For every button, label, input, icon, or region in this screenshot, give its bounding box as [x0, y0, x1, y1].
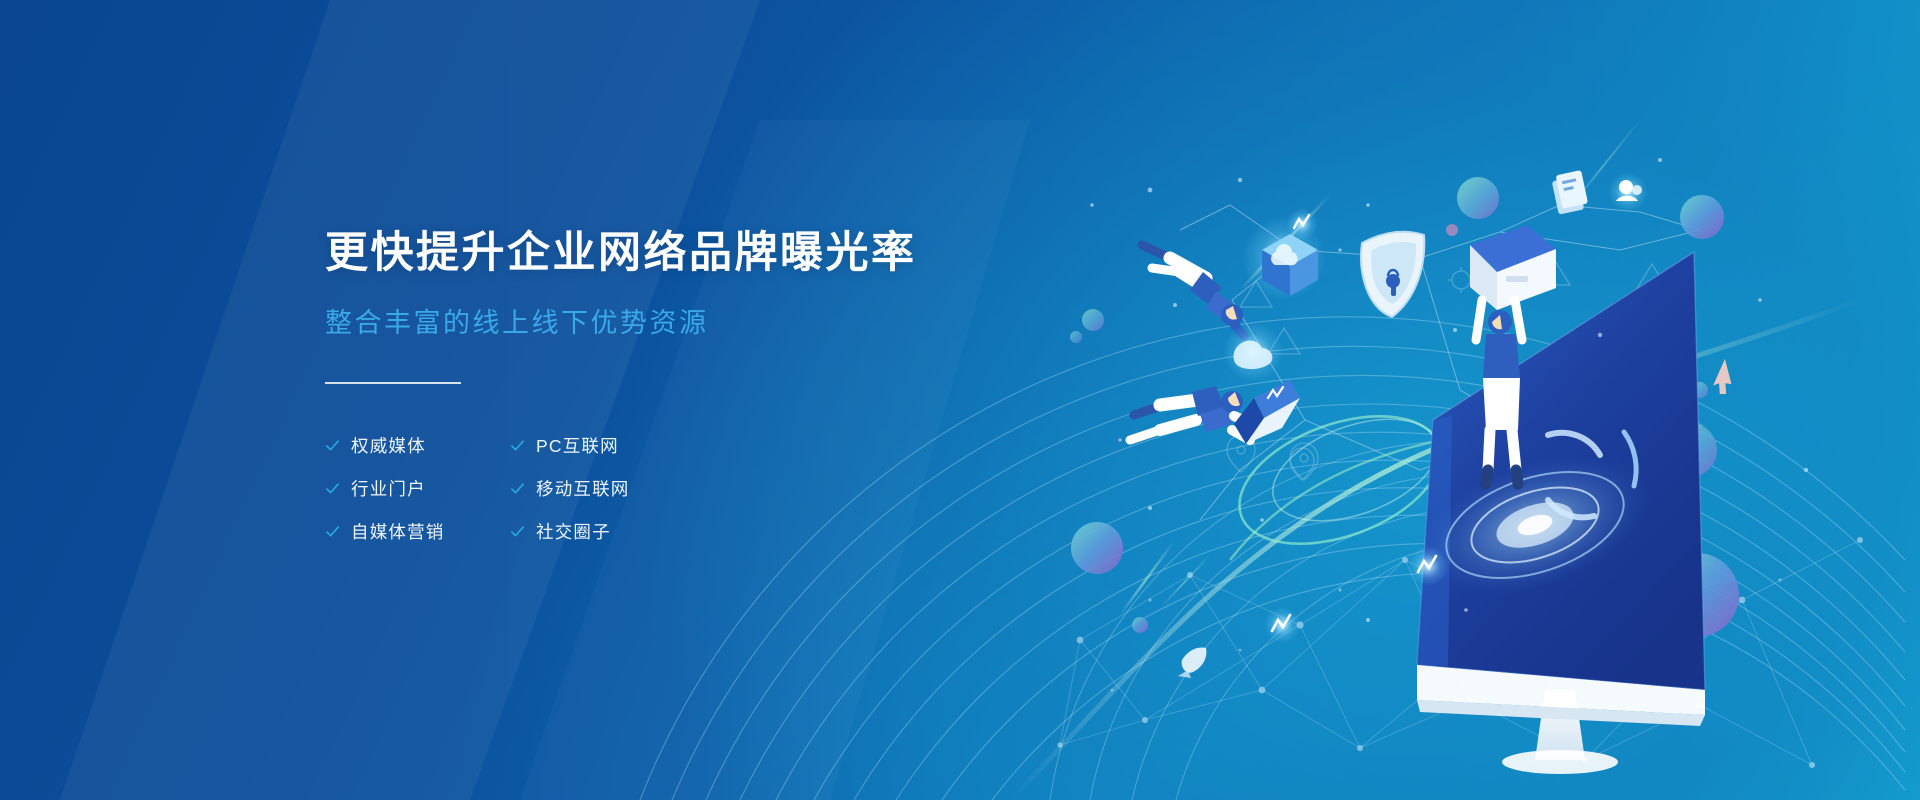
title-divider: [325, 382, 461, 384]
feature-label: 移动互联网: [536, 476, 630, 501]
person-floating-with-laptop: [1130, 380, 1300, 444]
desktop-monitor: [1404, 252, 1705, 774]
rocket-icon: [1178, 648, 1206, 679]
person-floating-diving: [1142, 245, 1283, 382]
feature-label: 权威媒体: [351, 433, 426, 458]
gradient-spheres: [1070, 177, 1739, 637]
page-subtitle: 整合丰富的线上线下优势资源: [325, 301, 1025, 340]
feature-list: 权威媒体 PC互联网 行业门户 移动互联网: [325, 424, 1025, 553]
check-icon: [510, 481, 525, 496]
cursor-arrow-icon: [1711, 358, 1738, 397]
cloud-server-icon: [1242, 216, 1326, 300]
glow-streak: [1010, 300, 1860, 800]
outline-icons: [1227, 259, 1703, 504]
feature-item-2: 行业门户: [325, 476, 510, 501]
check-icon: [510, 438, 525, 453]
screen-ring: [1548, 432, 1636, 517]
hero-banner: 更快提升企业网络品牌曝光率 整合丰富的线上线下优势资源 权威媒体 PC互联网: [0, 0, 1920, 800]
feature-item-1: PC互联网: [510, 433, 695, 458]
check-icon: [510, 524, 525, 539]
check-icon: [325, 438, 340, 453]
glow-loop: [1222, 391, 1458, 568]
scatter-dots: [1090, 158, 1808, 622]
feature-item-4: 自媒体营销: [325, 519, 510, 544]
floating-card-icons: [1551, 170, 1739, 396]
check-icon: [325, 481, 340, 496]
page-title: 更快提升企业网络品牌曝光率: [325, 228, 1025, 279]
feature-item-5: 社交圈子: [510, 519, 695, 544]
connection-lines: [1180, 205, 1700, 520]
feature-label: 社交圈子: [536, 519, 611, 544]
light-streaks: [1120, 120, 1640, 615]
signal-spark-icons: [1264, 208, 1448, 643]
feature-label: 自媒体营销: [351, 519, 445, 544]
feature-item-3: 移动互联网: [510, 476, 695, 501]
wave-arcs-secondary: [1050, 441, 1686, 800]
person-badge-icon: [1608, 172, 1648, 212]
screen-vortex: [1404, 430, 1667, 621]
feature-label: 行业门户: [351, 476, 426, 501]
network-mesh: [1057, 537, 1863, 768]
feature-label: PC互联网: [536, 433, 619, 458]
shield-lock-icon: [1361, 232, 1424, 317]
person-standing-on-screen: [1470, 225, 1556, 484]
feature-item-0: 权威媒体: [325, 433, 510, 458]
check-icon: [325, 524, 340, 539]
hero-copy: 更快提升企业网络品牌曝光率 整合丰富的线上线下优势资源 权威媒体 PC互联网: [325, 228, 1025, 553]
